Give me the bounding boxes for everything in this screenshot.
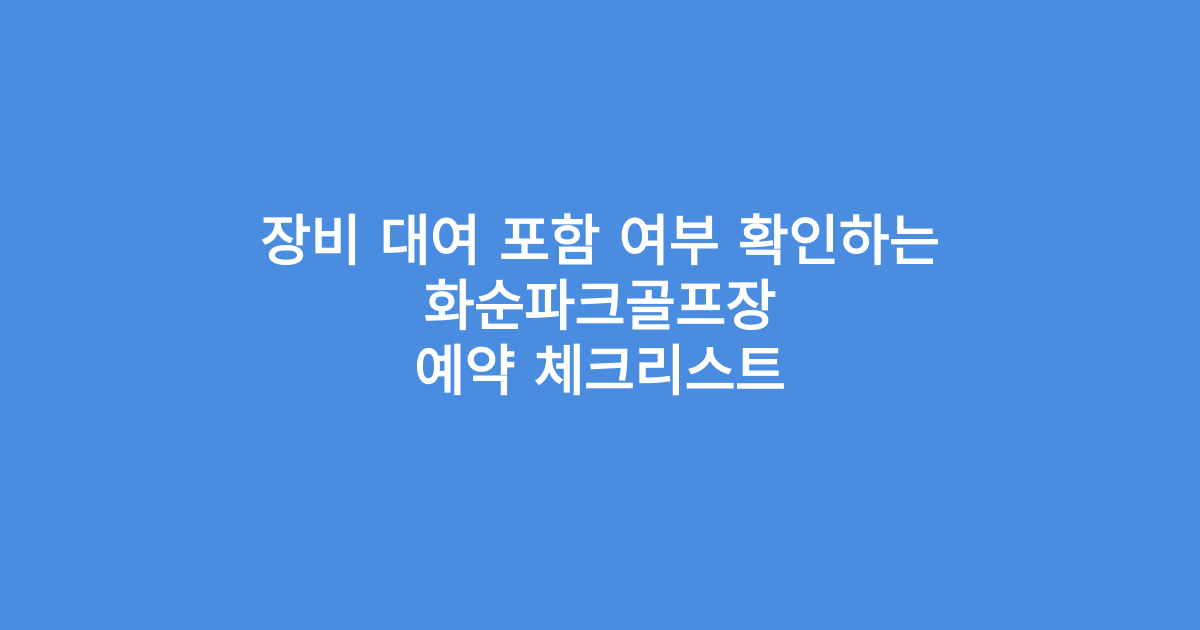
page-title: 장비 대여 포함 여부 확인하는 화순파크골프장 예약 체크리스트 xyxy=(90,209,1110,404)
card-content-container: 장비 대여 포함 여부 확인하는 화순파크골프장 예약 체크리스트 xyxy=(0,209,1200,404)
social-share-card: 장비 대여 포함 여부 확인하는 화순파크골프장 예약 체크리스트 xyxy=(0,0,1200,630)
